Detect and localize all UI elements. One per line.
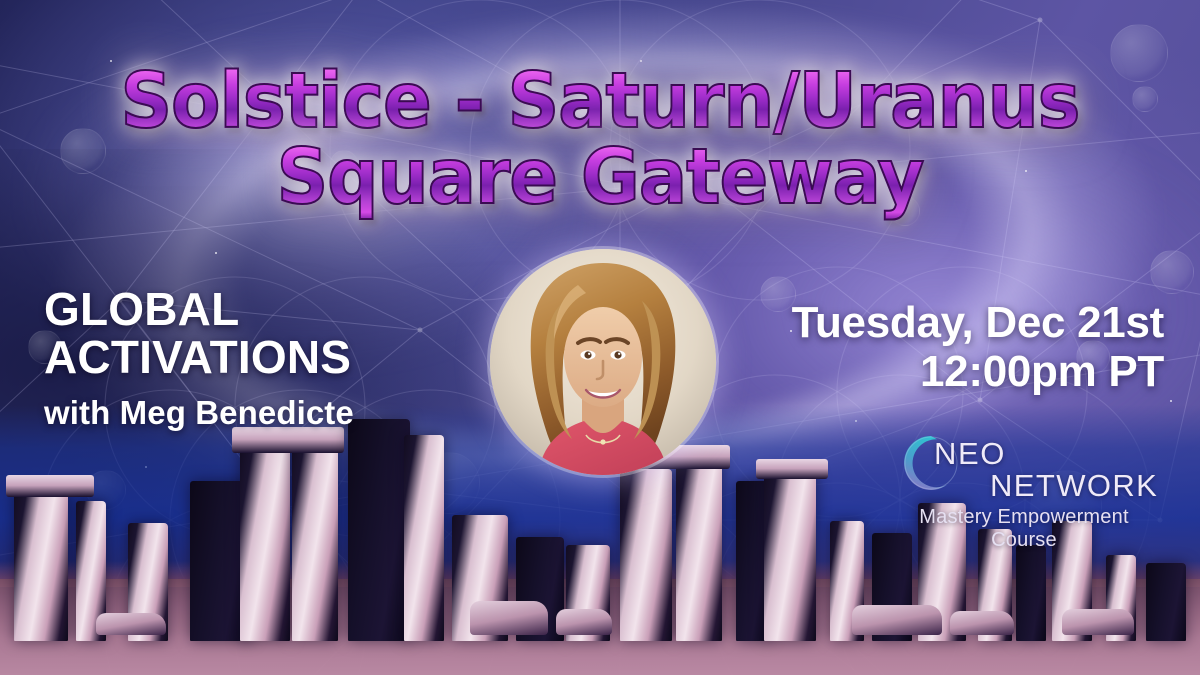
- presenter-subheading: with Meg Benedicte: [44, 394, 354, 432]
- global-activations-block: GLOBAL ACTIVATIONS with Meg Benedicte: [44, 286, 354, 432]
- event-datetime-block: Tuesday, Dec 21st 12:00pm PT: [792, 298, 1164, 397]
- title-line-2: Square Gateway: [277, 133, 924, 222]
- logo-word-network: NETWORK: [990, 468, 1158, 504]
- logo-word-neo: NEO: [934, 436, 1006, 472]
- promo-poster: Solstice - Saturn/Uranus Square Gateway …: [0, 0, 1200, 675]
- event-time: 12:00pm PT: [792, 347, 1164, 396]
- event-date: Tuesday, Dec 21st: [792, 298, 1164, 347]
- logo-tagline: Mastery Empowerment Course: [890, 506, 1158, 552]
- heading-line-1: GLOBAL: [44, 286, 354, 334]
- poster-title: Solstice - Saturn/Uranus Square Gateway: [42, 64, 1158, 216]
- neo-network-logo: NEO NETWORK Mastery Empowerment Course: [890, 432, 1158, 524]
- heading-line-2: ACTIVATIONS: [44, 334, 354, 382]
- presenter-portrait: [490, 249, 716, 475]
